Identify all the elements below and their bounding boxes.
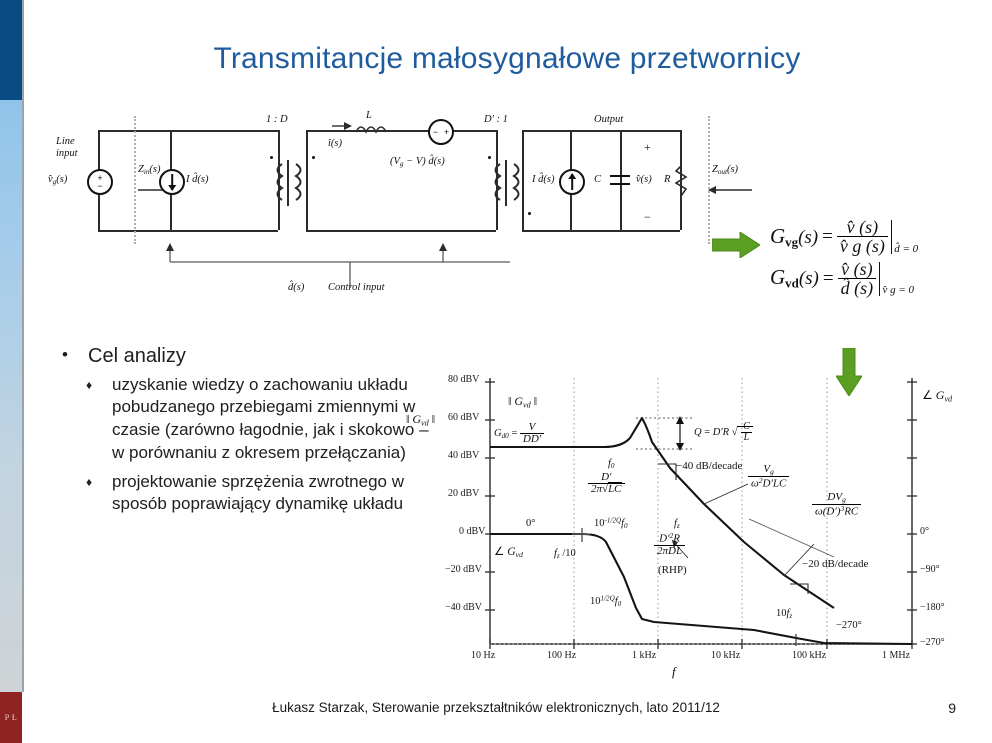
slide-page-number: 9 (948, 700, 956, 716)
transformer-right (494, 160, 520, 206)
wire-top-right (522, 130, 680, 132)
bullet-marker-level2: ♦ (86, 471, 112, 517)
gvd-denominator: d̂ (s) (838, 278, 877, 297)
label-polarity-plus: + (644, 140, 651, 155)
wire-top-left-b (230, 130, 278, 132)
annotation-phase-curve-label: ∠ Gvd (494, 544, 523, 559)
label-zout: Zout(s) (712, 164, 738, 176)
wire-cap-bot (620, 185, 622, 230)
source-vg: +− (87, 169, 113, 195)
annotation-phase-0deg: 0° (526, 518, 535, 529)
wire-v-xfmr1-sec (306, 130, 308, 230)
transformer-right-dot-primary (488, 156, 491, 159)
sidebar-edge-divider (22, 0, 24, 692)
annotation-f0: f0 (608, 458, 614, 470)
zout-direction-arrow (708, 184, 752, 196)
label-vout: v̂(s) (636, 174, 652, 185)
gvd-condition: v̂ g = 0 (882, 284, 914, 297)
label-input: input (56, 148, 78, 159)
gvg-numerator: v̂ (s) (844, 218, 881, 236)
bode-plot: ‖ Gvd ‖ 80 dBV 60 dBV 40 dBV 20 dBV 0 dB… (404, 372, 992, 670)
equation-gvd: Gvd(s) = v̂ (s) d̂ (s) v̂ g = 0 (770, 260, 918, 298)
wire-bot-mid (306, 230, 496, 232)
gvg-denominator: v̂ g (s) (837, 236, 888, 255)
bullet-marker-level2: ♦ (86, 374, 112, 465)
annotation-slope-40db: −40 dB/decade (676, 460, 742, 472)
annotation-asymptote-vg: Vg ω2D′LC (748, 464, 789, 490)
sidebar-gradient-block (0, 100, 22, 692)
source-id-right (559, 169, 585, 195)
chart-title-phase: ∠ Gvd (922, 388, 952, 403)
annotation-10-neg-half-q-f0: 10-1/2Qf0 (594, 516, 628, 530)
gvd-numerator: v̂ (s) (838, 260, 875, 278)
label-id-left: I d̂(s) (186, 174, 208, 185)
annotation-q-factor: Q = D′R √ C L (694, 422, 753, 443)
label-capacitor: C (594, 174, 601, 185)
annotation-f0-expr: D′ 2π√LC (588, 472, 625, 495)
bullet-list: • Cel analizy ♦ uzyskanie wiedzy o zacho… (62, 344, 432, 522)
label-turns-ratio-right: D′ : 1 (484, 114, 508, 125)
label-current-i: î(s) (328, 138, 342, 149)
transformer-left-dot-primary (270, 156, 273, 159)
label-vgv-d: (Vg − V) d̂(s) (390, 156, 445, 168)
annotation-slope-20db: −20 dB/decade (802, 558, 868, 570)
control-input-bus (60, 242, 700, 302)
green-arrow-right-icon (712, 232, 760, 258)
source-id-left (159, 169, 185, 195)
port-divider-input (134, 116, 136, 244)
bullet-level1-text: Cel analizy (88, 344, 186, 370)
label-control-d: d̂(s) (288, 282, 304, 293)
chart-title-magnitude: ‖ Gvd ‖ (508, 394, 537, 409)
wire-bot-right (522, 230, 680, 232)
transformer-left-dot-secondary (312, 156, 315, 159)
wire-v-xfmr2-sec (522, 130, 524, 230)
bullet-marker-level1: • (62, 344, 88, 370)
annotation-fz-over-10: fz /10 (554, 548, 576, 560)
label-turns-ratio-left: 1 : D (266, 114, 288, 125)
annotation-dc-gain: Gd0 = V DD′ (494, 422, 544, 445)
transfer-function-equations: Gvg(s) = v̂ (s) v̂ g (s) d̂ = 0 Gvd(s) =… (770, 218, 918, 301)
annotation-asymptote-dvg: DVg ω(D′)3RC (812, 492, 861, 518)
equation-gvg: Gvg(s) = v̂ (s) v̂ g (s) d̂ = 0 (770, 218, 918, 256)
transformer-right-dot-secondary (528, 212, 531, 215)
label-inductor: L (366, 110, 372, 121)
bullet-level2-item: ♦ projektowanie sprzężenia zwrotnego w s… (86, 471, 432, 517)
resistor-symbol (675, 166, 687, 196)
annotation-10-half-q-f0: 101/2Qf0 (590, 594, 621, 608)
bode-plot-canvas (404, 372, 992, 670)
label-id-right: I d̂(s) (532, 174, 554, 185)
gvg-condition: d̂ = 0 (894, 243, 918, 256)
label-output: Output (594, 114, 623, 125)
current-direction-arrow (332, 120, 352, 132)
label-line: Line (56, 136, 75, 147)
label-resistor: R (664, 174, 670, 185)
sidebar-top-block (0, 0, 22, 100)
annotation-fz: fz (674, 518, 680, 530)
bullet-level2-text-2: projektowanie sprzężenia zwrotnego w spo… (112, 471, 432, 517)
annotation-fz-expr: D′2R 2πDL (654, 532, 685, 557)
inductor-symbol (356, 123, 396, 137)
source-vgv-d: −+ (428, 119, 454, 145)
bullet-level2-item: ♦ uzyskanie wiedzy o zachowaniu układu p… (86, 374, 432, 465)
label-polarity-minus: − (644, 210, 651, 225)
decorative-sidebar: P Ł (0, 0, 22, 743)
transformer-left (276, 160, 302, 206)
port-divider-output (708, 116, 710, 244)
slide-title: Transmitancje małosygnałowe przetwornicy (22, 42, 992, 76)
wire-cap-top (620, 130, 622, 175)
annotation-10fz: 10fz (776, 608, 792, 620)
annotation-phase-neg270: −270° (836, 620, 862, 631)
label-vg-source: v̂g(s) (48, 174, 67, 186)
slide-footer: Łukasz Starzak, Sterowanie przekształtni… (0, 700, 992, 715)
bullet-level1: • Cel analizy (62, 344, 432, 370)
annotation-rhp: (RHP) (658, 564, 687, 576)
small-signal-circuit-diagram: +− Line input v̂g(s) Zin(s) I d̂(s) 1 : … (60, 112, 680, 312)
bullet-level2-text-1: uzyskanie wiedzy o zachowaniu układu pob… (112, 374, 432, 465)
label-zin: Zin(s) (138, 164, 160, 176)
wire-bot-left (98, 230, 278, 232)
label-control-input: Control input (328, 282, 385, 293)
